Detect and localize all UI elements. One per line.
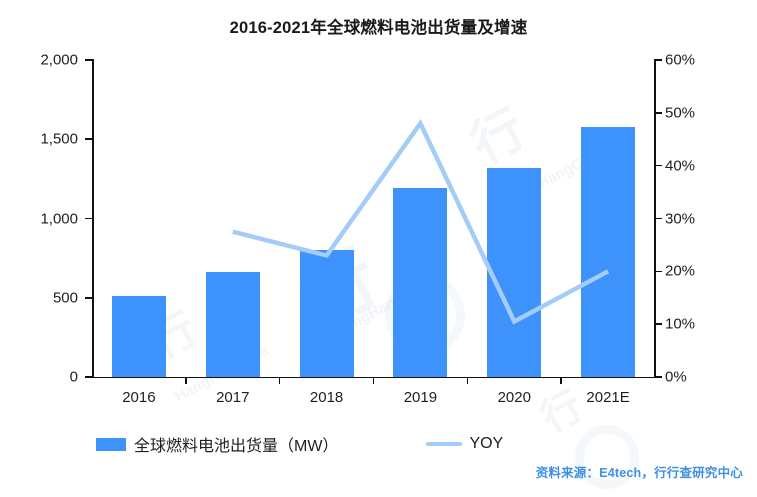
right-axis-tick xyxy=(655,112,662,114)
left-axis-tick xyxy=(85,297,92,299)
x-axis-tick xyxy=(467,377,469,384)
watermark-glyph: 行 xyxy=(529,374,592,444)
left-axis-tick xyxy=(85,138,92,140)
x-axis-tick xyxy=(279,377,281,384)
right-axis-tick-label: 10% xyxy=(665,316,735,333)
right-axis-tick xyxy=(655,59,662,61)
right-axis-tick-label: 30% xyxy=(665,210,735,227)
legend-label-yoy: YOY xyxy=(469,435,503,453)
legend-item-shipments[interactable]: 全球燃料电池出货量（MW） xyxy=(96,432,338,456)
left-axis-tick-label: 2,000 xyxy=(0,52,78,69)
right-axis-tick xyxy=(655,271,662,273)
right-axis-tick xyxy=(655,323,662,325)
left-axis-tick-label: 500 xyxy=(0,289,78,306)
bar-2018[interactable] xyxy=(300,250,354,377)
x-axis-tick xyxy=(560,377,562,384)
right-axis-tick xyxy=(655,165,662,167)
left-axis-tick xyxy=(85,59,92,61)
line-swatch-icon xyxy=(426,442,462,446)
right-axis-tick-label: 20% xyxy=(665,263,735,280)
x-axis-tick xyxy=(373,377,375,384)
bar-2017[interactable] xyxy=(206,272,260,377)
right-axis-tick xyxy=(655,376,662,378)
right-axis-tick-label: 50% xyxy=(665,104,735,121)
bar-2019[interactable] xyxy=(393,188,447,377)
bar-2016[interactable] xyxy=(112,296,166,377)
left-axis-tick xyxy=(85,376,92,378)
source-note: 资料来源：E4tech，行行查研究中心 xyxy=(536,462,743,481)
right-axis-tick-label: 0% xyxy=(665,369,735,386)
left-axis-tick-label: 1,000 xyxy=(0,210,78,227)
legend-label-shipments: 全球燃料电池出货量（MW） xyxy=(134,432,338,456)
x-axis-tick xyxy=(185,377,187,384)
x-axis-label-2021E: 2021E xyxy=(553,389,663,406)
right-axis-tick-label: 60% xyxy=(665,52,735,69)
bar-series xyxy=(92,60,655,377)
chart-legend: 全球燃料电池出货量（MW） YOY xyxy=(96,432,503,456)
right-axis-tick xyxy=(655,218,662,220)
chart-title: 2016-2021年全球燃料电池出货量及增速 xyxy=(0,14,757,38)
left-axis-tick xyxy=(85,218,92,220)
left-axis-tick-label: 0 xyxy=(0,369,78,386)
chart-container: 行 行 行 行 HangHangCha HangHangCha HangHang… xyxy=(0,0,757,497)
legend-item-yoy[interactable]: YOY xyxy=(426,435,503,453)
left-axis-tick-label: 1,500 xyxy=(0,131,78,148)
right-axis-tick-label: 40% xyxy=(665,157,735,174)
bar-2020[interactable] xyxy=(487,168,541,377)
bar-swatch-icon xyxy=(96,438,126,451)
bar-2021E[interactable] xyxy=(581,127,635,377)
